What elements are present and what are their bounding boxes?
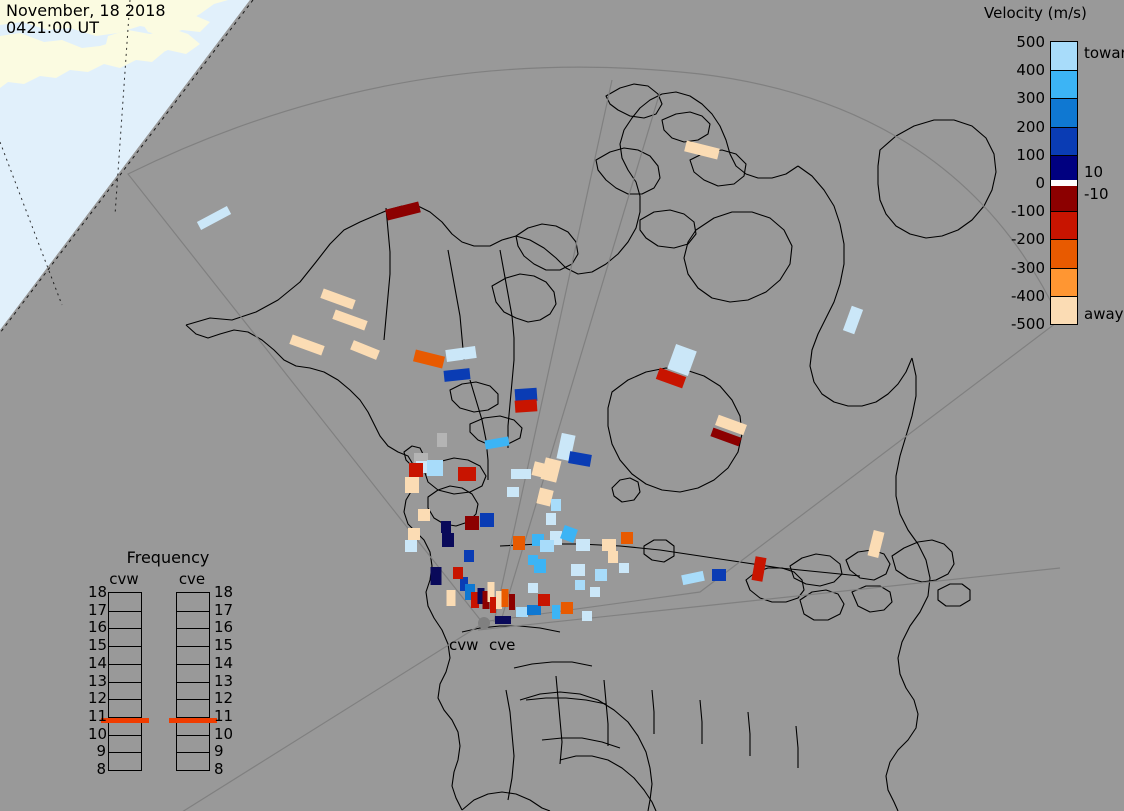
velocity-cell bbox=[464, 550, 474, 562]
frequency-tick-cvw-10: 10 bbox=[88, 725, 106, 743]
colorbar-separator bbox=[1051, 155, 1077, 156]
velocity-cell bbox=[495, 616, 511, 624]
velocity-cell bbox=[571, 564, 585, 576]
frequency-bar-cve bbox=[176, 592, 210, 771]
frequency-tick-cvw-14: 14 bbox=[88, 654, 106, 672]
velocity-cell bbox=[515, 399, 538, 413]
frequency-tick-cve-8: 8 bbox=[214, 760, 224, 778]
frequency-tick-cvw-12: 12 bbox=[88, 689, 106, 707]
frequency-marker-cvw bbox=[101, 718, 149, 723]
colorbar-tick-500: 500 bbox=[1016, 33, 1045, 51]
velocity-cell bbox=[546, 513, 556, 525]
velocity-cell bbox=[575, 580, 585, 590]
velocity-cell bbox=[447, 590, 456, 606]
velocity-cell bbox=[453, 567, 463, 579]
colorbar-band-2 bbox=[1051, 98, 1077, 126]
colorbar-band-7 bbox=[1051, 211, 1077, 239]
colorbar-tick--200: -200 bbox=[1011, 230, 1045, 248]
frequency-gridline bbox=[109, 752, 141, 753]
frequency-column-head-cvw: cvw bbox=[102, 570, 146, 588]
velocity-cell bbox=[681, 571, 705, 585]
velocity-cell bbox=[385, 202, 421, 221]
velocity-cell bbox=[413, 350, 445, 369]
frequency-tick-cvw-8: 8 bbox=[88, 760, 106, 778]
velocity-cell bbox=[197, 206, 231, 230]
velocity-cell bbox=[437, 433, 447, 447]
velocity-cell bbox=[350, 340, 380, 360]
velocity-cell bbox=[445, 346, 476, 362]
velocity-cell bbox=[409, 463, 423, 477]
frequency-tick-cve-18: 18 bbox=[214, 583, 233, 601]
colorbar-band-4 bbox=[1051, 155, 1077, 180]
velocity-legend-title: Velocity (m/s) bbox=[984, 4, 1087, 22]
frequency-gridline bbox=[109, 699, 141, 700]
colorbar-band-9 bbox=[1051, 268, 1077, 296]
colorbar-tick-0: 0 bbox=[1035, 174, 1045, 192]
frequency-marker-cve bbox=[169, 718, 217, 723]
frequency-gridline bbox=[177, 646, 209, 647]
velocity-cell bbox=[405, 477, 419, 493]
site-label-cvw: cvw bbox=[449, 636, 478, 654]
velocity-cell bbox=[480, 513, 494, 527]
velocity-cell bbox=[576, 539, 590, 551]
frequency-tick-cve-17: 17 bbox=[214, 601, 233, 619]
velocity-cell bbox=[408, 528, 420, 540]
frequency-tick-cve-16: 16 bbox=[214, 618, 233, 636]
colorbar-tick-400: 400 bbox=[1016, 61, 1045, 79]
velocity-cell bbox=[441, 521, 451, 533]
colorbar-separator bbox=[1051, 127, 1077, 128]
frequency-gridline bbox=[109, 646, 141, 647]
site-label-cve: cve bbox=[489, 636, 515, 654]
velocity-cell bbox=[442, 533, 454, 547]
velocity-cell bbox=[427, 460, 443, 476]
velocity-cell bbox=[332, 309, 367, 330]
velocity-cell bbox=[502, 589, 509, 607]
velocity-cell bbox=[418, 509, 430, 521]
velocity-cell bbox=[560, 525, 578, 543]
frequency-tick-cve-11: 11 bbox=[214, 707, 233, 725]
frequency-legend: Frequency cvw cve 1818171716161515141413… bbox=[88, 548, 248, 788]
velocity-cell bbox=[540, 540, 554, 552]
velocity-cell bbox=[458, 467, 476, 481]
velocity-cell bbox=[320, 288, 355, 309]
velocity-cell bbox=[751, 556, 766, 582]
velocity-cell bbox=[608, 551, 618, 563]
frequency-tick-cve-14: 14 bbox=[214, 654, 233, 672]
velocity-cell bbox=[582, 611, 592, 621]
frequency-column-head-cve: cve bbox=[170, 570, 214, 588]
colorbar-tick--300: -300 bbox=[1011, 259, 1045, 277]
colorbar-separator bbox=[1051, 268, 1077, 269]
frequency-tick-cvw-15: 15 bbox=[88, 636, 106, 654]
frequency-gridline bbox=[177, 699, 209, 700]
colorbar-tick-200: 200 bbox=[1016, 118, 1045, 136]
frequency-tick-cve-15: 15 bbox=[214, 636, 233, 654]
velocity-cell bbox=[684, 141, 720, 160]
velocity-cell bbox=[527, 605, 541, 615]
colorbar-near-zero-negative-label: -10 bbox=[1084, 185, 1109, 203]
frequency-tick-cve-13: 13 bbox=[214, 672, 233, 690]
colorbar-tick--100: -100 bbox=[1011, 202, 1045, 220]
colorbar-tick-300: 300 bbox=[1016, 89, 1045, 107]
frequency-legend-title: Frequency bbox=[88, 548, 248, 567]
frequency-gridline bbox=[177, 752, 209, 753]
velocity-cell bbox=[507, 487, 519, 497]
frequency-bar-cvw bbox=[108, 592, 142, 771]
colorbar-separator bbox=[1051, 239, 1077, 240]
velocity-cell bbox=[551, 499, 561, 511]
velocity-cell bbox=[595, 569, 607, 581]
velocity-cell bbox=[568, 451, 592, 467]
colorbar-band-3 bbox=[1051, 127, 1077, 155]
velocity-cell bbox=[465, 516, 479, 530]
frequency-gridline bbox=[177, 664, 209, 665]
velocity-cell bbox=[552, 605, 560, 619]
frequency-gridline bbox=[177, 735, 209, 736]
frequency-tick-cve-12: 12 bbox=[214, 689, 233, 707]
colorbar-near-zero-positive-label: 10 bbox=[1084, 163, 1103, 181]
radar-velocity-map: November, 18 2018 0421:00 UT Velocity (m… bbox=[0, 0, 1124, 811]
frequency-gridline bbox=[109, 664, 141, 665]
velocity-cell bbox=[528, 583, 538, 593]
velocity-cell bbox=[868, 530, 885, 558]
velocity-cell bbox=[484, 436, 509, 449]
frequency-gridline bbox=[177, 682, 209, 683]
colorbar-separator bbox=[1051, 296, 1077, 297]
colorbar-tick--500: -500 bbox=[1011, 315, 1045, 333]
frequency-tick-cvw-17: 17 bbox=[88, 601, 106, 619]
velocity-cell bbox=[843, 306, 863, 335]
frequency-tick-cvw-11: 11 bbox=[88, 707, 106, 725]
colorbar-tick--400: -400 bbox=[1011, 287, 1045, 305]
velocity-cell bbox=[516, 607, 528, 617]
frequency-gridline bbox=[177, 611, 209, 612]
velocity-cell bbox=[621, 532, 633, 544]
frequency-tick-cvw-9: 9 bbox=[88, 742, 106, 760]
velocity-cell bbox=[561, 602, 573, 614]
colorbar-separator bbox=[1051, 98, 1077, 99]
frequency-gridline bbox=[109, 628, 141, 629]
velocity-cell bbox=[602, 539, 616, 551]
velocity-cell bbox=[538, 594, 550, 606]
velocity-cell bbox=[513, 536, 525, 550]
colorbar-band-8 bbox=[1051, 239, 1077, 267]
timestamp-label: November, 18 2018 0421:00 UT bbox=[6, 2, 166, 36]
colorbar-band-1 bbox=[1051, 70, 1077, 98]
velocity-cell bbox=[431, 567, 442, 585]
velocity-cell bbox=[590, 587, 600, 597]
frequency-tick-cve-10: 10 bbox=[214, 725, 233, 743]
colorbar-band-6 bbox=[1051, 186, 1077, 211]
colorbar-toward-label: toward bbox=[1084, 44, 1124, 62]
velocity-cell bbox=[509, 594, 515, 610]
colorbar-separator bbox=[1051, 211, 1077, 212]
velocity-legend: Velocity (m/s) 5004003002001000-100-200-… bbox=[978, 2, 1124, 332]
frequency-tick-cvw-13: 13 bbox=[88, 672, 106, 690]
velocity-cell bbox=[667, 344, 697, 376]
frequency-gridline bbox=[109, 611, 141, 612]
colorbar-tick-100: 100 bbox=[1016, 146, 1045, 164]
velocity-cell bbox=[619, 563, 629, 573]
frequency-gridline bbox=[109, 735, 141, 736]
velocity-colorbar: 5004003002001000-100-200-300-400-500towa… bbox=[1050, 41, 1078, 325]
velocity-cell bbox=[496, 591, 502, 609]
colorbar-separator bbox=[1051, 70, 1077, 71]
frequency-tick-cvw-16: 16 bbox=[88, 618, 106, 636]
velocity-cell bbox=[511, 469, 531, 479]
frequency-gridline bbox=[109, 682, 141, 683]
velocity-cell bbox=[443, 368, 470, 382]
frequency-tick-cvw-18: 18 bbox=[88, 583, 106, 601]
frequency-gridline bbox=[177, 628, 209, 629]
velocity-cell bbox=[289, 334, 324, 355]
velocity-cell bbox=[712, 569, 726, 581]
colorbar-band-0 bbox=[1051, 42, 1077, 70]
velocity-cell bbox=[528, 555, 538, 565]
colorbar-band-10 bbox=[1051, 296, 1077, 324]
velocity-cell bbox=[490, 597, 496, 613]
frequency-tick-cve-9: 9 bbox=[214, 742, 224, 760]
colorbar-away-label: away bbox=[1084, 305, 1124, 323]
velocity-cell bbox=[405, 540, 417, 552]
